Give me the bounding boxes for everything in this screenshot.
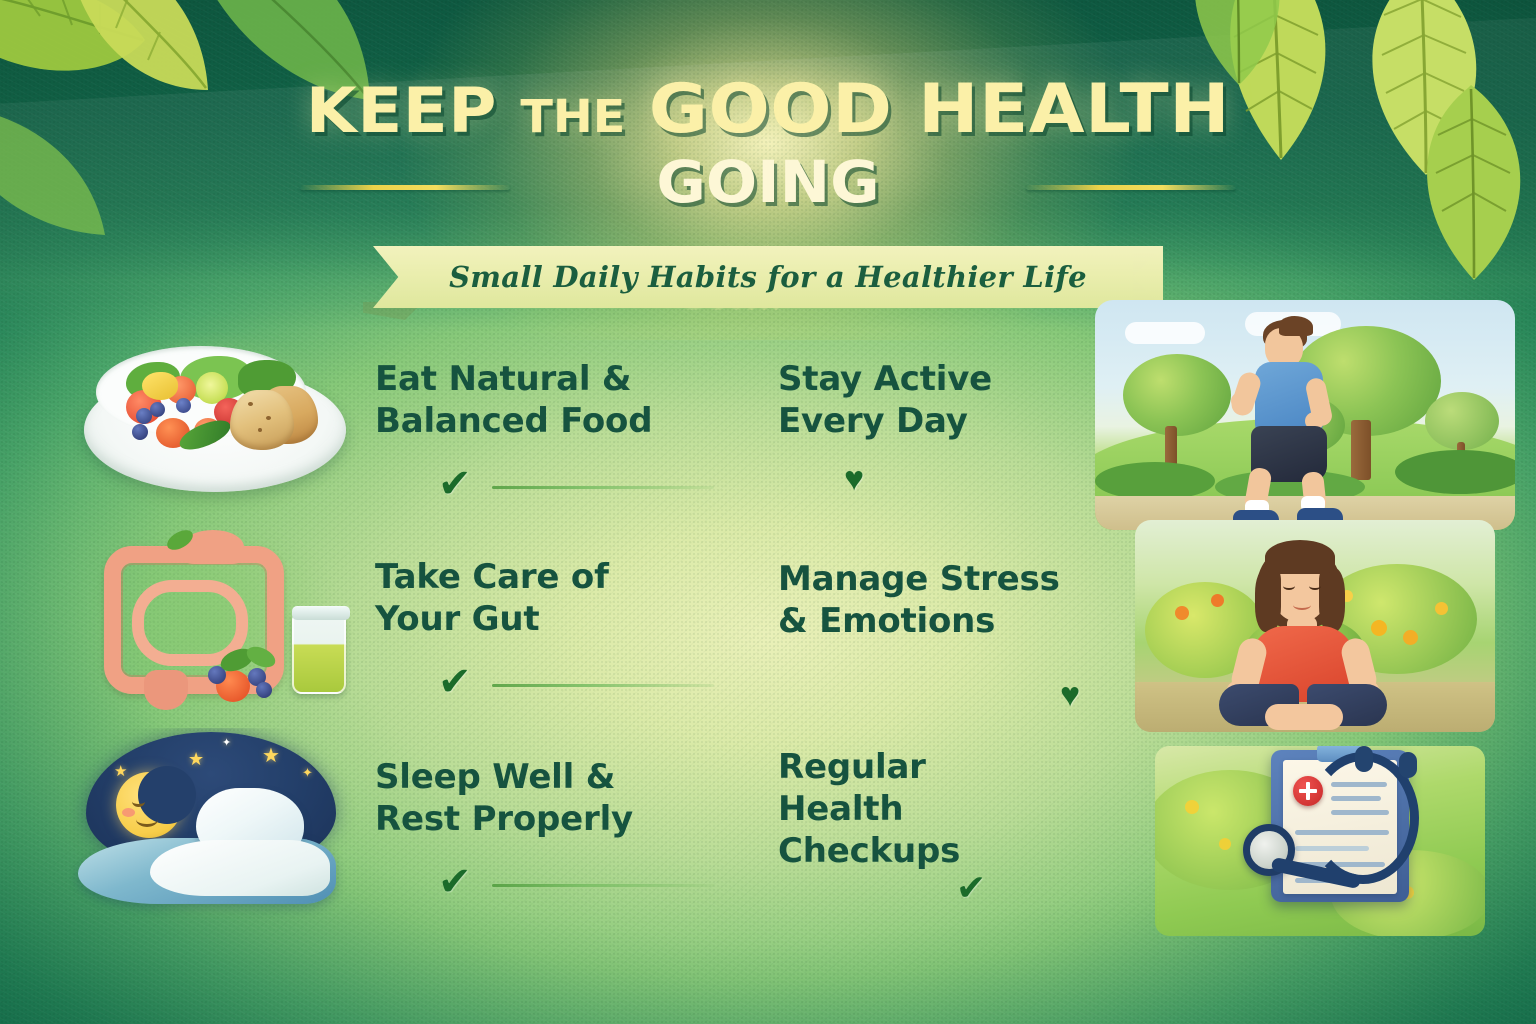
subtitle-text: Small Daily Habits for a Healthier Life [373,246,1163,308]
check-icon: ✔ [438,464,472,504]
woman-meditating-icon [1135,520,1495,732]
heart-check-icon: ♥ [844,462,864,496]
habit-label-line2: Your Gut [375,598,715,640]
habit-label: Sleep Well & Rest Properly [375,756,715,840]
star-icon: ★ [188,750,204,768]
star-icon: ✦ [222,738,231,749]
title-line-1: KEEP THE GOOD HEALTH [0,78,1536,143]
star-icon: ★ [114,764,127,779]
healthy-plate-icon [70,332,360,512]
habit-label-line1: Sleep Well & [375,756,715,798]
habit-label-line2: Every Day [778,400,1108,442]
intestines-probiotic-icon [70,530,360,710]
star-icon: ✦ [302,766,313,779]
habit-label-line2: Health [778,788,1108,830]
poster-title: KEEP THE GOOD HEALTH GOING [0,78,1536,225]
habit-label: Take Care of Your Gut [375,556,715,640]
habit-label-line2: & Emotions [778,600,1108,642]
check-icon: ✔ [438,662,472,702]
crescent-moon-icon [116,772,182,838]
title-line-2-row: GOING [0,151,1536,225]
habit-item-sleep-well[interactable]: ★ ★ ✦ ★ ✦ ★ Sleep Well & Rest Prop [60,726,775,922]
title-word-keep: KEEP [306,74,497,147]
habit-label-line2: Rest Properly [375,798,715,840]
moon-pillow-night-icon: ★ ★ ✦ ★ ✦ ★ [70,728,360,918]
check-icon: ✔ [956,870,986,906]
habit-label-line1: Stay Active [778,358,1108,400]
habit-label-line3: Checkups [778,830,1108,872]
jogger-in-park-icon [1095,300,1515,530]
habit-underline [492,486,714,489]
habit-label-line1: Take Care of [375,556,715,598]
habit-item-take-care-gut[interactable]: Take Care of Your Gut ✔ [60,528,775,724]
habit-label-line1: Manage Stress [778,558,1108,600]
habit-label: Manage Stress & Emotions [778,558,1108,642]
habit-underline [492,884,714,887]
title-line-2: GOING [0,151,1536,215]
habit-label-line2: Balanced Food [375,400,715,442]
habit-label-line1: Eat Natural & [375,358,715,400]
title-word-good-health: GOOD HEALTH [649,70,1230,149]
habit-underline [492,684,714,687]
habit-label: Stay Active Every Day [778,358,1108,442]
habit-label: Eat Natural & Balanced Food [375,358,715,442]
habit-label: Regular Health Checkups [778,746,1108,872]
subtitle-ribbon: Small Daily Habits for a Healthier Life [373,246,1163,308]
habit-item-stay-active[interactable]: Stay Active Every Day ♥ [760,312,1475,508]
habit-item-eat-natural[interactable]: Eat Natural & Balanced Food ✔ [60,330,775,526]
habit-item-manage-stress[interactable]: Manage Stress & Emotions ♥ [760,528,1475,724]
clipboard-stethoscope-icon [1155,746,1485,936]
star-icon: ★ [262,746,280,766]
title-rule-right [1026,185,1236,190]
habit-label-line1: Regular [778,746,1108,788]
habit-item-health-checkups[interactable]: Regular Health Checkups ✔ [760,726,1475,922]
title-word-the: THE [520,90,625,143]
habits-list: Eat Natural & Balanced Food ✔ [0,330,1536,950]
infographic-poster: KEEP THE GOOD HEALTH GOING Small Daily H… [0,0,1536,1024]
heart-check-icon: ♥ [1060,678,1080,712]
check-icon: ✔ [438,862,472,902]
